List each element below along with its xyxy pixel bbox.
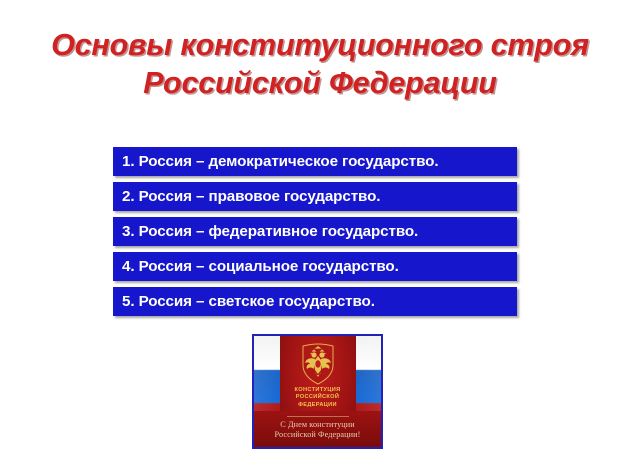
double-headed-eagle-icon bbox=[298, 343, 338, 385]
principle-text: 2. Россия – правовое государство. bbox=[122, 188, 380, 205]
title-line-1: Основы конституционного строя bbox=[0, 26, 640, 64]
principle-text: 3. Россия – федеративное государство. bbox=[122, 223, 418, 240]
constitution-book-title: Конституция Российской Федерации bbox=[254, 387, 381, 409]
principle-text: 5. Россия – светское государство. bbox=[122, 293, 375, 310]
list-item: 4. Россия – социальное государство. bbox=[113, 252, 517, 281]
list-item: 3. Россия – федеративное государство. bbox=[113, 217, 517, 246]
book-title-line-3: Федерации bbox=[254, 402, 381, 409]
page-title: Основы конституционного строя Российской… bbox=[0, 26, 640, 102]
principle-text: 1. Россия – демократическое государство. bbox=[122, 153, 438, 170]
list-item: 5. Россия – светское государство. bbox=[113, 287, 517, 316]
title-line-2: Российской Федерации bbox=[0, 64, 640, 102]
greeting-line-1: С Днем конституции bbox=[254, 420, 381, 430]
list-item: 2. Россия – правовое государство. bbox=[113, 182, 517, 211]
greeting-line-2: Российской Федерации! bbox=[254, 430, 381, 440]
book-title-line-2: Российской bbox=[254, 394, 381, 401]
constitution-greeting: С Днем конституции Российской Федерации! bbox=[254, 420, 381, 440]
list-item: 1. Россия – демократическое государство. bbox=[113, 147, 517, 176]
principle-text: 4. Россия – социальное государство. bbox=[122, 258, 399, 275]
divider bbox=[287, 416, 349, 417]
constitution-image: Конституция Российской Федерации С Днем … bbox=[252, 334, 383, 449]
principles-list: 1. Россия – демократическое государство.… bbox=[113, 147, 517, 316]
